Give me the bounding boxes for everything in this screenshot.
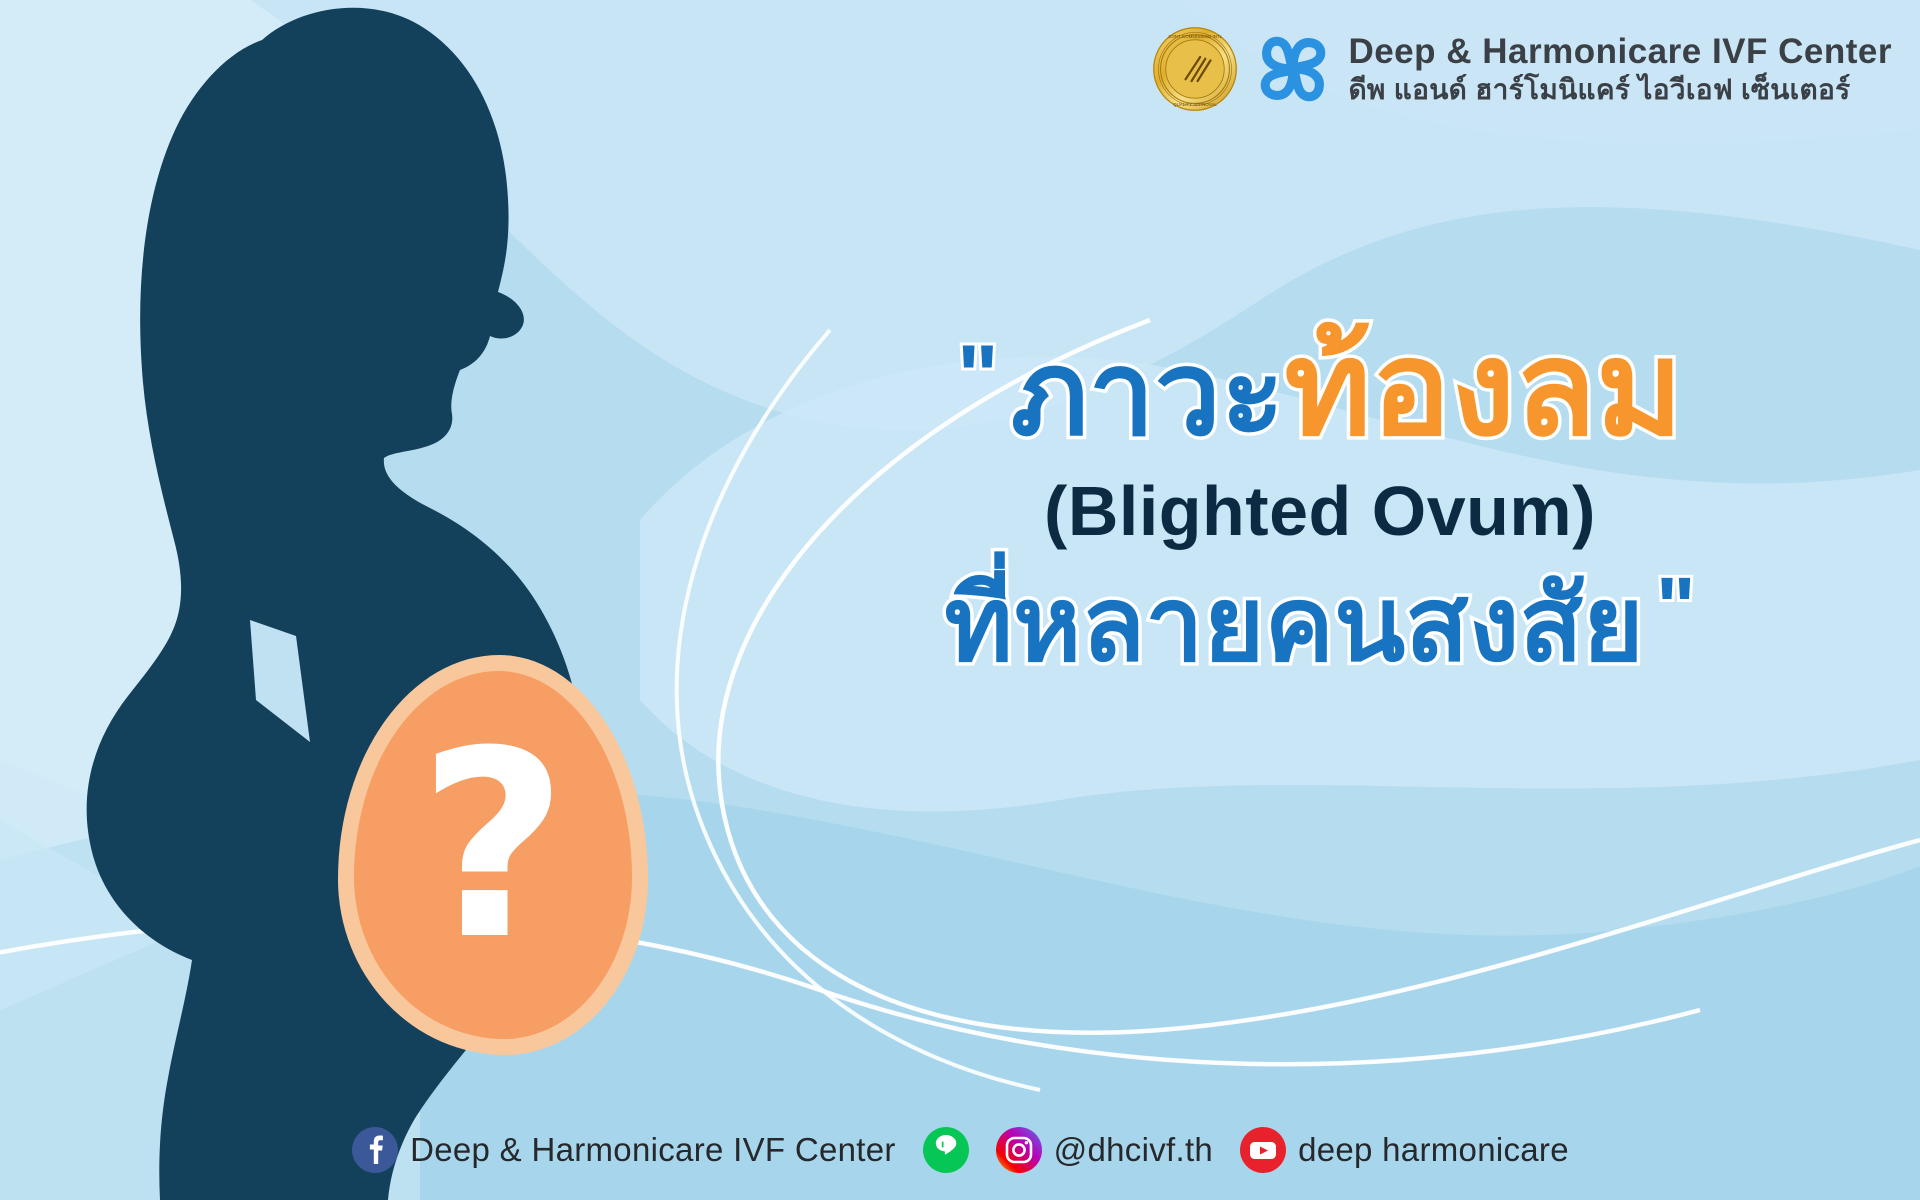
svg-text:QUALITY APPROVAL: QUALITY APPROVAL (1174, 102, 1218, 107)
headline-line-3: ที่หลายคนสงสัย" (760, 563, 1880, 680)
pinwheel-flower-logo-icon (1252, 28, 1334, 110)
social-label-youtube: deep harmonicare (1298, 1131, 1569, 1169)
social-item-instagram[interactable]: @dhcivf.th (995, 1126, 1213, 1174)
headline-line-1: "ภาวะท้องลม (760, 320, 1880, 457)
headline-thai-blue-1: ภาวะ (1011, 328, 1285, 460)
social-label-instagram: @dhcivf.th (1054, 1131, 1213, 1169)
jci-gold-seal-icon: JOINT COMMISSION INTL QUALITY APPROVAL (1152, 26, 1238, 112)
svg-text:JOINT COMMISSION INTL: JOINT COMMISSION INTL (1168, 34, 1223, 39)
social-bar: Deep & Harmonicare IVF Center @dhcivf.th (0, 1126, 1920, 1174)
social-item-line[interactable] (922, 1126, 981, 1174)
social-label-facebook: Deep & Harmonicare IVF Center (410, 1131, 896, 1169)
social-item-youtube[interactable]: deep harmonicare (1239, 1126, 1569, 1174)
open-quote: " (957, 326, 999, 425)
social-item-facebook[interactable]: Deep & Harmonicare IVF Center (351, 1126, 896, 1174)
close-quote: " (1656, 560, 1696, 654)
brand-header: JOINT COMMISSION INTL QUALITY APPROVAL D… (1152, 26, 1892, 112)
youtube-icon[interactable] (1239, 1126, 1287, 1174)
brand-name-thai: ดีพ แอนด์ ฮาร์โมนิแคร์ ไอวีเอฟ เซ็นเตอร์ (1348, 75, 1892, 105)
headline-english-subtitle: (Blighted Ovum) (760, 471, 1880, 551)
headline-thai-orange: ท้องลม (1284, 315, 1683, 462)
brand-name-english: Deep & Harmonicare IVF Center (1348, 33, 1892, 71)
headline-block: "ภาวะท้องลม (Blighted Ovum) ที่หลายคนสงส… (760, 320, 1880, 681)
facebook-icon[interactable] (351, 1126, 399, 1174)
headline-thai-blue-2: ที่หลายคนสงสัย (944, 567, 1644, 683)
brand-text-block: Deep & Harmonicare IVF Center ดีพ แอนด์ … (1348, 33, 1892, 105)
instagram-icon[interactable] (995, 1126, 1043, 1174)
poster-canvas: ? JOINT COMMISSION INTL QUALITY APPROVAL (0, 0, 1920, 1200)
line-icon[interactable] (922, 1126, 970, 1174)
belly-question-badge: ? (338, 655, 648, 1055)
question-mark-symbol: ? (338, 655, 648, 1055)
